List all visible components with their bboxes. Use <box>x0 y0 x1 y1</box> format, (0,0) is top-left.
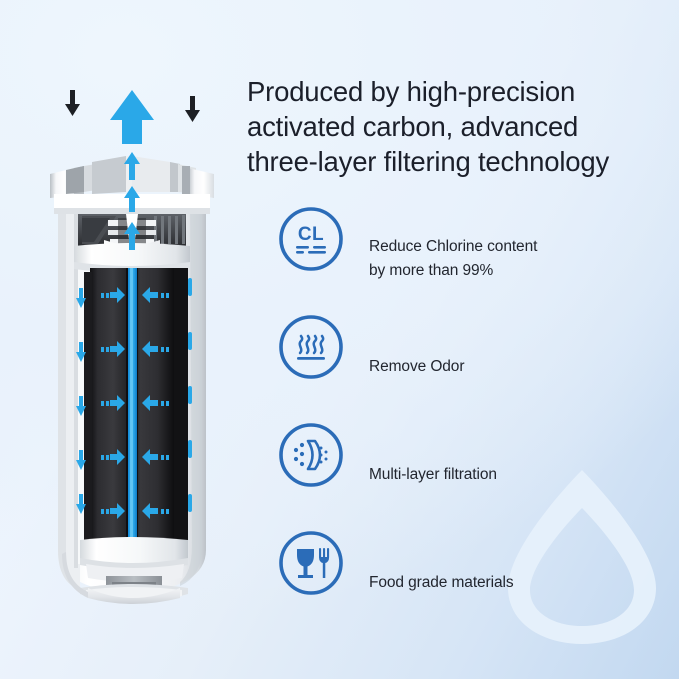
feature-label-filtration: Multi-layer filtration <box>369 463 497 487</box>
feature-item-food-grade: Food grade materials <box>277 529 667 637</box>
feature-item-filtration: Multi-layer filtration <box>277 421 667 529</box>
multi-layer-filtration-icon <box>277 421 345 489</box>
svg-text:CL: CL <box>298 224 324 245</box>
feature-list: CL Reduce Chlorine content by more than … <box>277 205 667 637</box>
page-title: Produced by high-precision activated car… <box>247 74 667 179</box>
odor-waves-icon <box>277 313 345 381</box>
water-filter-cartridge-illustration <box>22 82 242 612</box>
feature-item-odor: Remove Odor <box>277 313 667 421</box>
feature-label-odor: Remove Odor <box>369 355 464 379</box>
product-feature-graphic: Produced by high-precision activated car… <box>0 0 679 679</box>
feature-label-chlorine: Reduce Chlorine content by more than 99% <box>369 235 537 283</box>
feature-item-chlorine: CL Reduce Chlorine content by more than … <box>277 205 667 313</box>
feature-label-food-grade: Food grade materials <box>369 571 513 595</box>
food-grade-glass-fork-icon <box>277 529 345 597</box>
chlorine-cl-icon: CL <box>277 205 345 273</box>
